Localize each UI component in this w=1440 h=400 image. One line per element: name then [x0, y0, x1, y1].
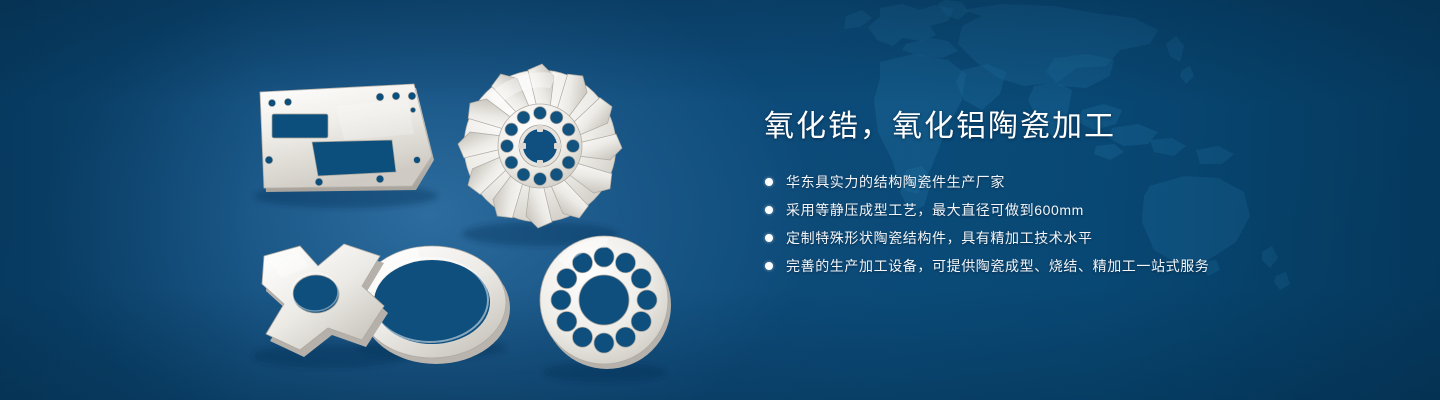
ceramic-impeller-part — [458, 64, 622, 228]
bullet-dot-icon — [765, 178, 773, 186]
list-item-label: 采用等静压成型工艺，最大直径可做到600mm — [786, 202, 1084, 218]
page-title: 氧化锆，氧化铝陶瓷加工 — [764, 108, 1384, 146]
feature-list: 华东具实力的结构陶瓷件生产厂家 采用等静压成型工艺，最大直径可做到600mm 定… — [764, 171, 1384, 277]
list-item: 华东具实力的结构陶瓷件生产厂家 — [764, 171, 1384, 193]
banner-copy-block: 氧化锆，氧化铝陶瓷加工 华东具实力的结构陶瓷件生产厂家 采用等静压成型工艺，最大… — [764, 108, 1384, 277]
ceramic-plate-part — [260, 84, 434, 192]
list-item-label: 定制特殊形状陶瓷结构件，具有精加工技术水平 — [786, 230, 1093, 246]
promo-banner: 氧化锆，氧化铝陶瓷加工 华东具实力的结构陶瓷件生产厂家 采用等静压成型工艺，最大… — [0, 0, 1440, 400]
list-item: 完善的生产加工设备，可提供陶瓷成型、烧结、精加工一站式服务 — [764, 255, 1384, 277]
ceramic-cross-part — [262, 244, 388, 357]
ceramic-product-photos — [0, 0, 740, 400]
list-item-label: 完善的生产加工设备，可提供陶瓷成型、烧结、精加工一站式服务 — [786, 258, 1209, 274]
list-item: 定制特殊形状陶瓷结构件，具有精加工技术水平 — [764, 227, 1384, 249]
list-item: 采用等静压成型工艺，最大直径可做到600mm — [764, 199, 1384, 221]
list-item-label: 华东具实力的结构陶瓷件生产厂家 — [786, 174, 1005, 190]
ceramic-hole-disc-part — [540, 236, 671, 369]
bullet-dot-icon — [765, 262, 773, 270]
bullet-dot-icon — [765, 234, 773, 242]
bullet-dot-icon — [765, 206, 773, 214]
